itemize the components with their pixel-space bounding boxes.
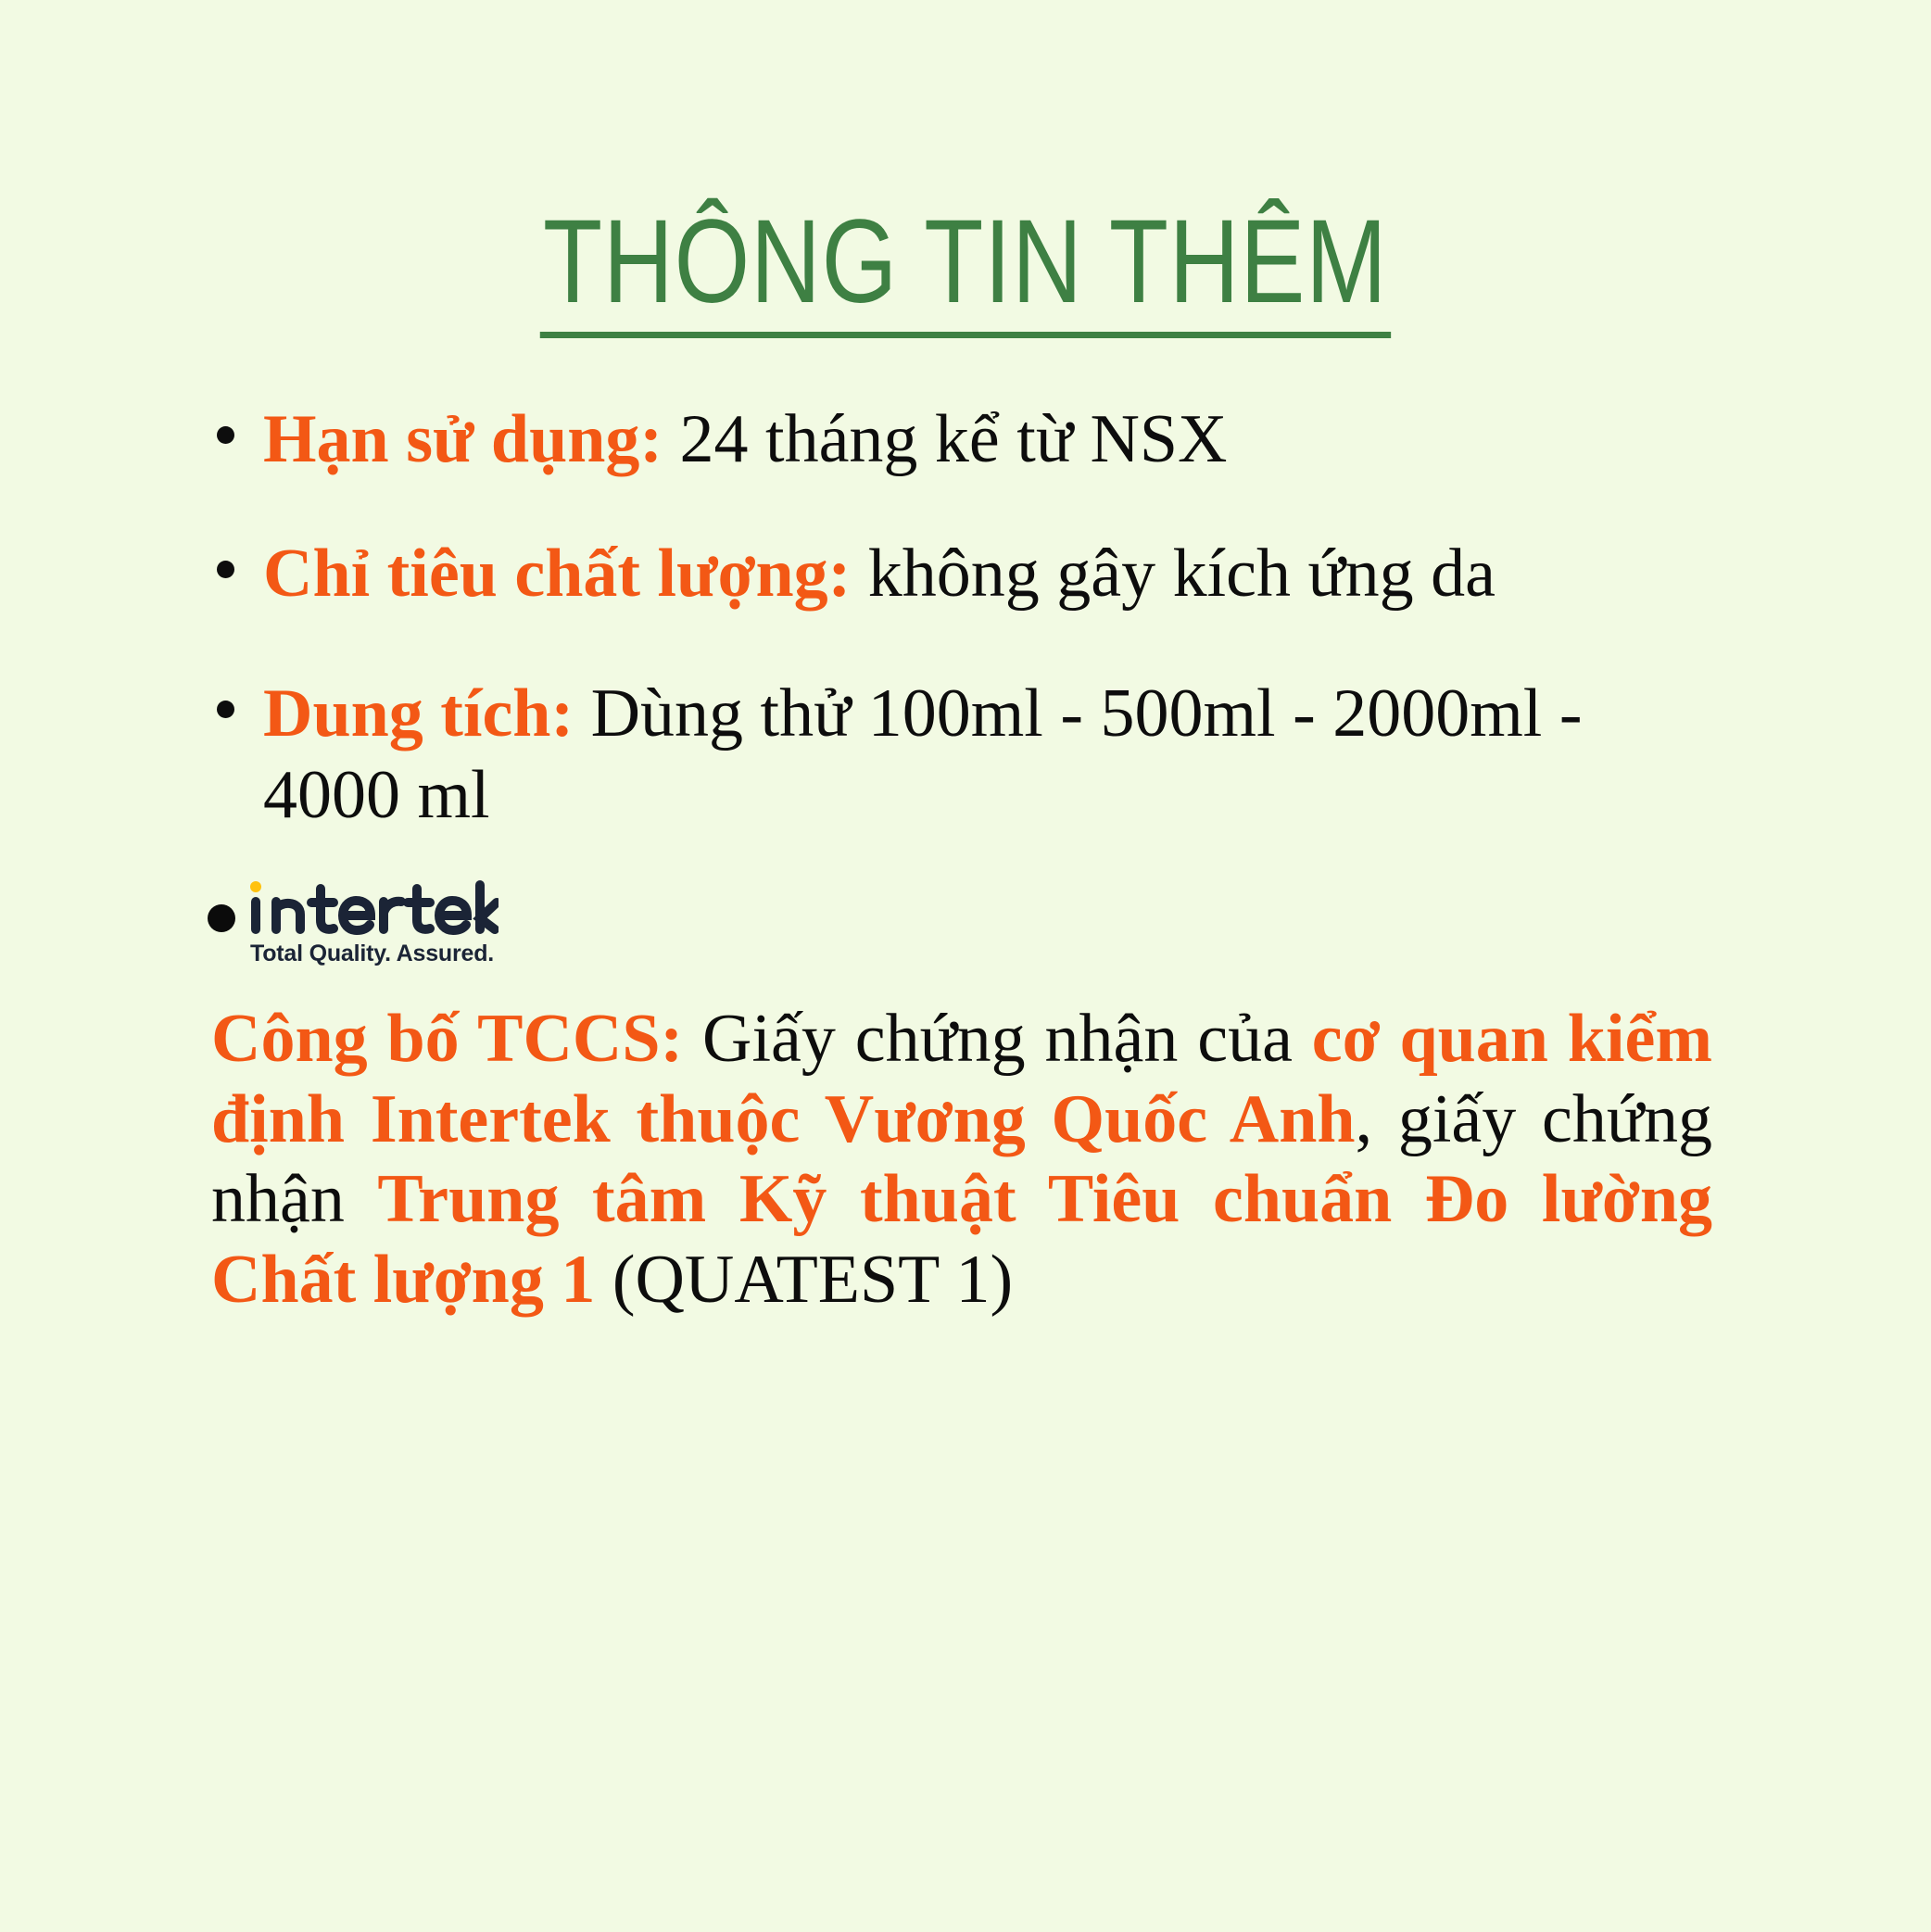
bullet-label: Chỉ tiêu chất lượng: — [263, 536, 851, 612]
intertek-wordmark-icon — [248, 878, 499, 937]
tccs-text-3: (QUATEST 1) — [595, 1242, 1013, 1318]
product-info-card: THÔNG TIN THÊM Hạn sử dụng: 24 tháng kể … — [0, 0, 1931, 1932]
bullet-label: Dung tích: — [263, 676, 574, 751]
bullet-value: không gây kích ứng da — [851, 536, 1496, 612]
page-title: THÔNG TIN THÊM — [540, 202, 1391, 339]
content-body: Hạn sử dụng: 24 tháng kể từ NSX Chỉ tiêu… — [211, 398, 1731, 1320]
bullet-value: 24 tháng kể từ NSX — [663, 401, 1227, 477]
list-item: Hạn sử dụng: 24 tháng kể từ NSX — [211, 398, 1731, 481]
list-item: Chỉ tiêu chất lượng: không gây kích ứng … — [211, 533, 1731, 615]
intertek-tagline: Total Quality. Assured. — [250, 941, 523, 967]
logo-dot-icon — [208, 904, 235, 932]
tccs-text-1: Giấy chứng nhận của — [683, 1001, 1312, 1077]
tccs-label: Công bố TCCS: — [211, 1001, 683, 1077]
intertek-logo-row — [208, 878, 523, 937]
info-bullet-list: Hạn sử dụng: 24 tháng kể từ NSX Chỉ tiêu… — [211, 398, 1731, 837]
intertek-logo: Total Quality. Assured. — [208, 878, 523, 967]
page-title-container: THÔNG TIN THÊM — [0, 0, 1931, 418]
bullet-label: Hạn sử dụng: — [263, 401, 663, 477]
list-item: Dung tích: Dùng thử 100ml - 500ml - 2000… — [211, 673, 1731, 838]
bullet-dot-icon — [217, 426, 234, 444]
bullet-dot-icon — [217, 701, 234, 718]
bullet-dot-icon — [217, 561, 234, 578]
tccs-paragraph: Công bố TCCS: Giấy chứng nhận của cơ qua… — [211, 999, 1712, 1320]
